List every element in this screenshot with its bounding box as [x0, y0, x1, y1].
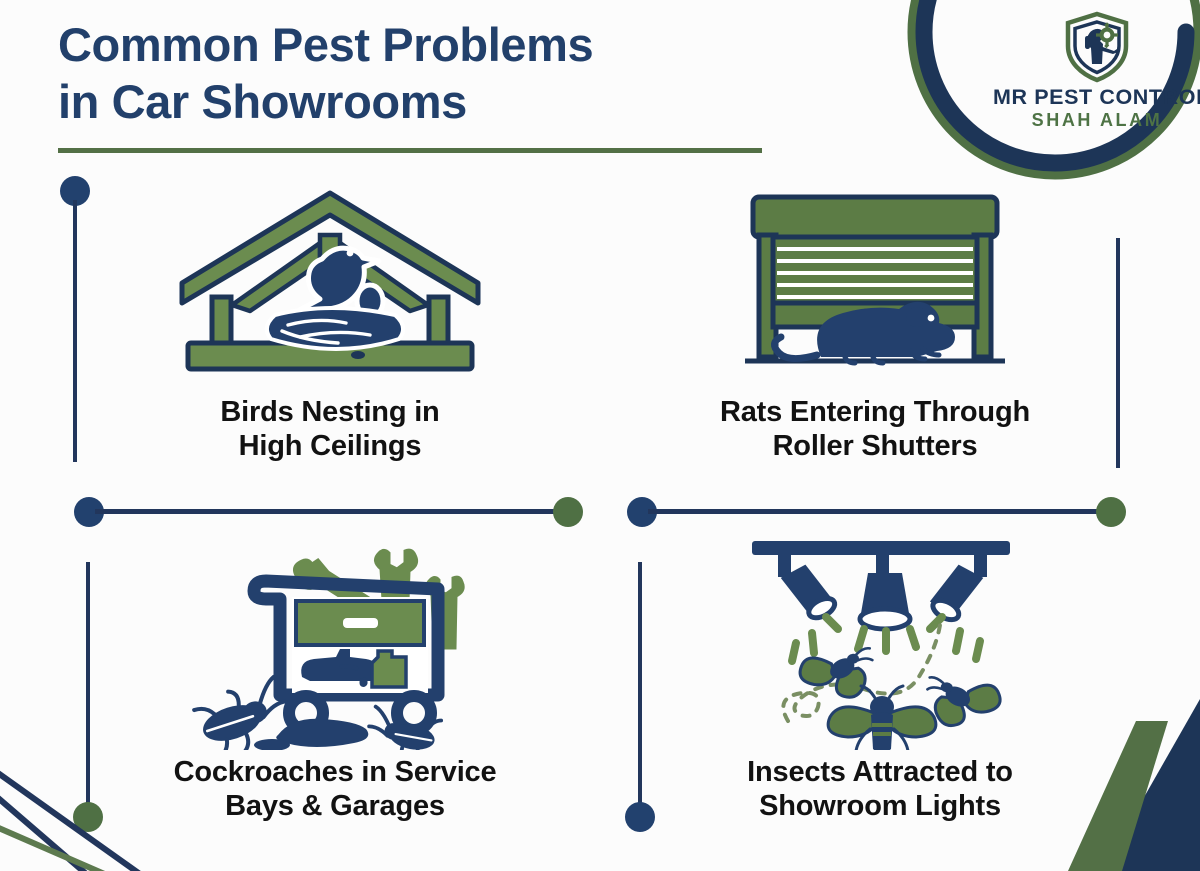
card-birds-label: Birds Nesting in High Ceilings [100, 396, 560, 464]
card-birds: Birds Nesting in High Ceilings [100, 185, 560, 464]
card-birds-label-line-1: Birds Nesting in [100, 396, 560, 430]
connector-line-left-bottom [86, 562, 90, 807]
title-line-1: Common Pest Problems [58, 16, 818, 73]
card-rats-label: Rats Entering Through Roller Shutters [640, 396, 1110, 464]
connector-line-left-top [73, 200, 77, 462]
card-rats-label-line-1: Rats Entering Through [640, 396, 1110, 430]
connector-line-right-top [1116, 238, 1120, 468]
infographic-canvas: MR PEST CONTROL SHAH ALAM Common Pest Pr… [0, 0, 1200, 871]
logo-brand-name: MR PEST CONTROL [993, 86, 1200, 109]
bird-nest-roof-icon [170, 185, 490, 390]
card-cockroaches-label-line-2: Bays & Garages [105, 790, 565, 824]
card-cockroaches: Cockroaches in Service Bays & Garages [105, 535, 565, 824]
title-underline [58, 148, 762, 153]
title-line-2: in Car Showrooms [58, 73, 818, 130]
card-rats-label-line-2: Roller Shutters [640, 430, 1110, 464]
card-insects-label: Insects Attracted to Showroom Lights [655, 756, 1105, 824]
insects-track-lights-icon [730, 535, 1030, 750]
card-cockroaches-label: Cockroaches in Service Bays & Garages [105, 756, 565, 824]
brand-logo: MR PEST CONTROL SHAH ALAM [905, 0, 1200, 182]
card-insects: Insects Attracted to Showroom Lights [655, 535, 1105, 824]
connector-dot-bottom-right [625, 802, 655, 832]
connector-dot-bottom-left [73, 802, 103, 832]
card-insects-label-line-2: Showroom Lights [655, 790, 1105, 824]
cockroach-tool-cart-icon [180, 535, 490, 750]
rat-roller-shutter-icon [725, 185, 1025, 390]
page-title: Common Pest Problems in Car Showrooms [58, 16, 818, 131]
card-cockroaches-label-line-1: Cockroaches in Service [105, 756, 565, 790]
connector-line-mid-right [648, 509, 1108, 514]
connector-dot-mid-right-end [1096, 497, 1126, 527]
card-rats: Rats Entering Through Roller Shutters [640, 185, 1110, 464]
card-birds-label-line-2: High Ceilings [100, 430, 560, 464]
card-insects-label-line-1: Insects Attracted to [655, 756, 1105, 790]
logo-location: SHAH ALAM [993, 111, 1200, 130]
connector-dot-mid-left-end [553, 497, 583, 527]
connector-line-mid-left [95, 509, 565, 514]
shield-pest-worker-icon [1060, 10, 1134, 84]
connector-line-right-bottom [638, 562, 642, 807]
